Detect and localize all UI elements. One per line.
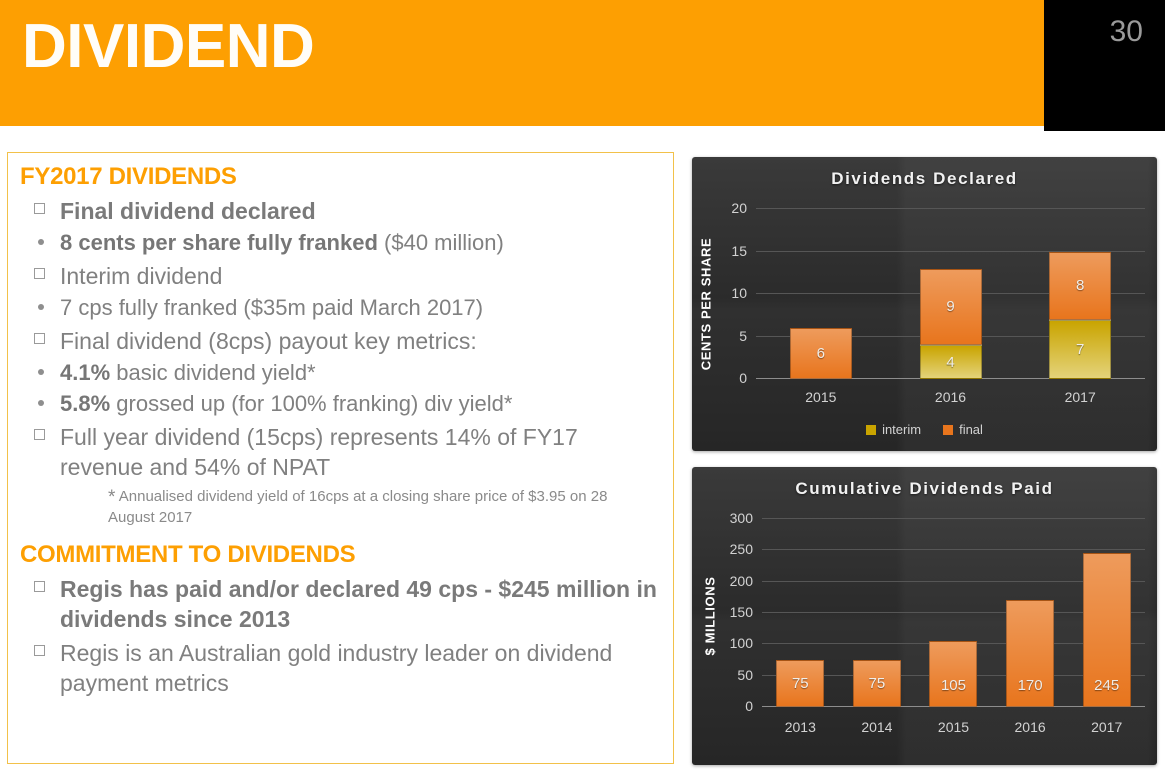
y-axis-tick-label: 0 [739, 370, 747, 386]
y-axis-tick-label: 250 [730, 541, 753, 557]
bar-value-label: 9 [946, 298, 954, 315]
bar-group: 75 [762, 519, 839, 707]
chart-title: Cumulative Dividends Paid [692, 479, 1157, 499]
bar: 9 [920, 269, 982, 346]
content-panel: FY2017 DIVIDENDS Final dividend declared… [7, 152, 674, 764]
list-item: Regis has paid and/or declared 49 cps - … [20, 574, 663, 634]
square-bullet-icon [34, 429, 45, 440]
list-item-label: 7 cps fully franked ($35m paid March 201… [60, 295, 483, 320]
x-axis-tick-label: 2015 [915, 719, 992, 735]
legend-swatch [943, 425, 953, 435]
list-item: 8 cents per share fully franked ($40 mil… [20, 228, 663, 257]
y-axis-tick-label: 50 [737, 667, 753, 683]
list-item-label: Final dividend declared [60, 198, 316, 224]
bar: 8 [1049, 252, 1111, 320]
list-item-label: grossed up (for 100% franking) div yield… [110, 391, 512, 416]
y-axis-tick-label: 10 [731, 285, 747, 301]
x-axis-tick-label: 2017 [1068, 719, 1145, 735]
y-axis-tick-label: 200 [730, 573, 753, 589]
x-axis-tick-label: 2016 [992, 719, 1069, 735]
dot-bullet-icon [38, 239, 44, 245]
list-item: 4.1% basic dividend yield* [20, 358, 663, 387]
x-axis-tick-label: 2014 [839, 719, 916, 735]
chart-title: Dividends Declared [692, 169, 1157, 189]
list-item-label: Final dividend (8cps) payout key metrics… [60, 328, 477, 354]
legend-label: final [959, 422, 983, 437]
sub-bullet-list: 4.1% basic dividend yield* 5.8% grossed … [20, 358, 663, 418]
bar-value-label: 8 [1076, 277, 1084, 294]
bar: 4 [920, 345, 982, 379]
list-item-label: basic dividend yield* [110, 360, 315, 385]
chart-y-axis-label: $ MILLIONS [703, 577, 718, 656]
legend-swatch [866, 425, 876, 435]
bullet-list-commitment: Regis has paid and/or declared 49 cps - … [20, 574, 663, 698]
x-axis-tick-label: 2017 [1015, 389, 1145, 405]
footnote-marker: * [108, 487, 115, 508]
y-axis-tick-label: 0 [745, 698, 753, 714]
section-heading-fy2017: FY2017 DIVIDENDS [20, 162, 663, 192]
y-axis-tick-label: 100 [730, 635, 753, 651]
list-item: Interim dividend [20, 261, 663, 291]
bar: 7 [1049, 320, 1111, 380]
chart-x-axis: 20132014201520162017 [762, 719, 1145, 735]
bar-group: 105 [915, 519, 992, 707]
bar: 6 [790, 328, 852, 379]
bullet-list-fy2017: Final dividend declared 8 cents per shar… [20, 196, 663, 482]
bar-group: 6 [756, 209, 886, 379]
chart-bars: 7575105170245 [762, 519, 1145, 707]
chart-legend: interimfinal [692, 422, 1157, 437]
square-bullet-icon [34, 333, 45, 344]
bar-value-label: 170 [1018, 677, 1043, 694]
dot-bullet-icon [38, 369, 44, 375]
list-item-label: Interim dividend [60, 263, 222, 289]
list-item-label: Regis is an Australian gold industry lea… [60, 640, 612, 696]
slide: DIVIDEND 30 FY2017 DIVIDENDS Final divid… [0, 0, 1165, 770]
bar: 105 [929, 641, 977, 707]
chart-dividends-declared: Dividends Declared CENTS PER SHARE 05101… [692, 157, 1157, 451]
legend-item: final [943, 422, 983, 437]
section-heading-commitment: COMMITMENT TO DIVIDENDS [20, 540, 663, 570]
list-item: Final dividend declared [20, 196, 663, 226]
square-bullet-icon [34, 645, 45, 656]
chart-y-axis-label: CENTS PER SHARE [699, 238, 714, 371]
list-item-emphasis: 4.1% [60, 360, 110, 385]
y-axis-tick-label: 150 [730, 604, 753, 620]
y-axis-tick-label: 300 [730, 510, 753, 526]
footnote: * Annualised dividend yield of 16cps at … [108, 487, 648, 528]
bar-group: 170 [992, 519, 1069, 707]
chart-plot-area: 050100150200250300 7575105170245 [762, 519, 1145, 707]
bar-value-label: 4 [946, 354, 954, 371]
bar-value-label: 105 [941, 677, 966, 694]
square-bullet-icon [34, 203, 45, 214]
list-item-label: Regis has paid and/or declared 49 cps - … [60, 576, 657, 632]
square-bullet-icon [34, 268, 45, 279]
y-axis-tick-label: 5 [739, 328, 747, 344]
x-axis-tick-label: 2013 [762, 719, 839, 735]
chart-x-axis: 201520162017 [756, 389, 1145, 405]
list-item: 5.8% grossed up (for 100% franking) div … [20, 389, 663, 418]
bar: 245 [1083, 553, 1131, 707]
bar-group: 94 [886, 209, 1016, 379]
bar: 75 [776, 660, 824, 707]
chart-cumulative-dividends-paid: Cumulative Dividends Paid $ MILLIONS 050… [692, 467, 1157, 765]
sub-bullet-list: 7 cps fully franked ($35m paid March 201… [20, 293, 663, 322]
list-item-emphasis: 8 cents per share fully franked [60, 230, 378, 255]
y-axis-tick-label: 20 [731, 200, 747, 216]
list-item-label: ($40 million) [378, 230, 504, 255]
x-axis-tick-label: 2015 [756, 389, 886, 405]
page-number: 30 [1110, 12, 1143, 52]
legend-item: interim [866, 422, 921, 437]
chart-plot-area: 05101520 69487 [756, 209, 1145, 379]
list-item-label: Full year dividend (15cps) represents 14… [60, 424, 578, 480]
bar: 75 [853, 660, 901, 707]
list-item: Final dividend (8cps) payout key metrics… [20, 326, 663, 356]
bar-value-label: 245 [1094, 677, 1119, 694]
page-number-tab: 30 [1044, 0, 1165, 131]
square-bullet-icon [34, 581, 45, 592]
legend-label: interim [882, 422, 921, 437]
bar-value-label: 75 [792, 675, 809, 692]
bar: 170 [1006, 600, 1054, 707]
x-axis-tick-label: 2016 [886, 389, 1016, 405]
list-item: 7 cps fully franked ($35m paid March 201… [20, 293, 663, 322]
bar-value-label: 6 [817, 345, 825, 362]
page-title: DIVIDEND [22, 8, 314, 86]
list-item: Full year dividend (15cps) represents 14… [20, 422, 663, 482]
bar-group: 245 [1068, 519, 1145, 707]
list-item: Regis is an Australian gold industry lea… [20, 638, 663, 698]
chart-bars: 69487 [756, 209, 1145, 379]
bar-group: 87 [1015, 209, 1145, 379]
bar-value-label: 7 [1076, 341, 1084, 358]
footnote-text: Annualised dividend yield of 16cps at a … [108, 488, 607, 526]
y-axis-tick-label: 15 [731, 243, 747, 259]
sub-bullet-list: 8 cents per share fully franked ($40 mil… [20, 228, 663, 257]
dot-bullet-icon [38, 304, 44, 310]
list-item-emphasis: 5.8% [60, 391, 110, 416]
dot-bullet-icon [38, 400, 44, 406]
bar-value-label: 75 [869, 675, 886, 692]
slide-header-bar: DIVIDEND [0, 0, 1044, 126]
bar-group: 75 [839, 519, 916, 707]
